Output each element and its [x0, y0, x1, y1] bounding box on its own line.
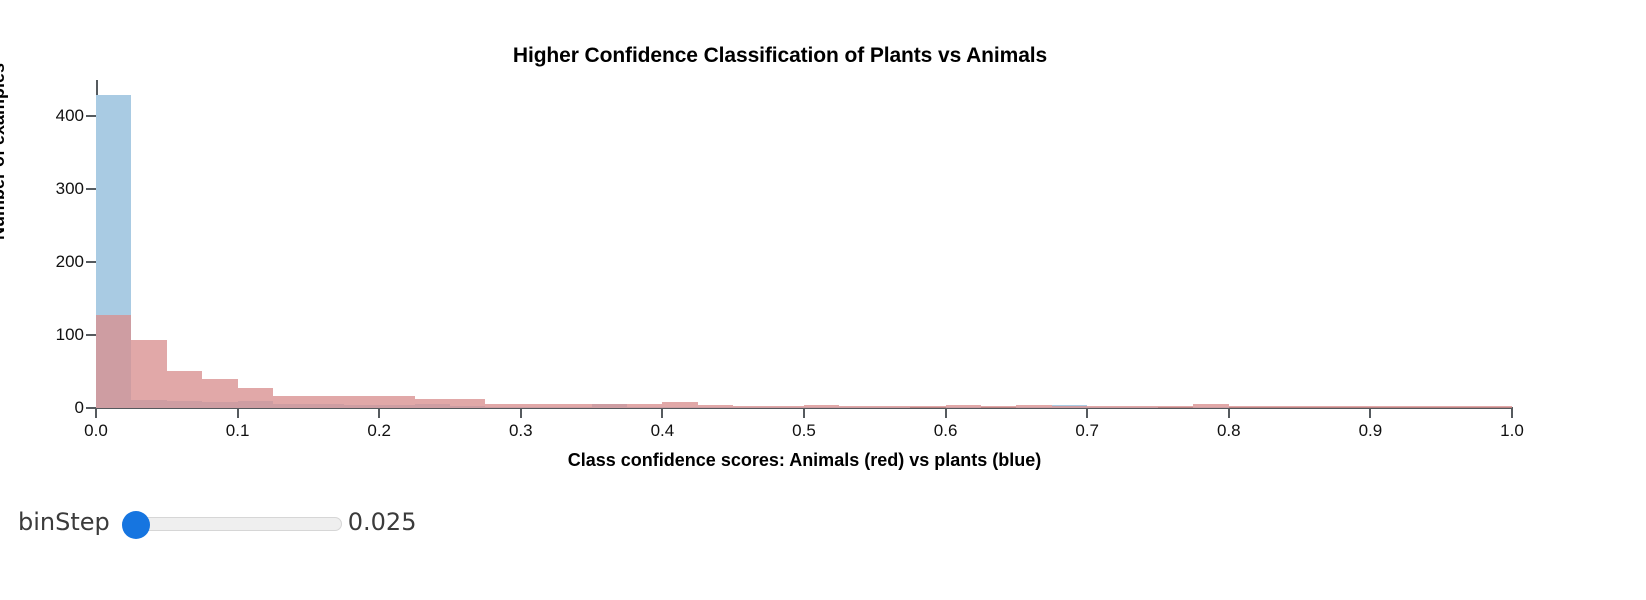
histogram-bar: [981, 406, 1016, 408]
x-axis-label: Class confidence scores: Animals (red) v…: [96, 450, 1513, 471]
x-tick-label: 0.7: [1075, 421, 1099, 441]
x-tick-label: 0.2: [367, 421, 391, 441]
bin-step-label: binStep: [18, 508, 110, 536]
histogram-bar: [804, 405, 839, 408]
y-tick: [86, 115, 96, 117]
histogram-bar: [96, 315, 131, 408]
y-tick: [86, 334, 96, 336]
x-tick: [95, 409, 97, 418]
histogram-bar: [1123, 406, 1158, 408]
histogram-bar: [1158, 406, 1193, 408]
x-tick: [1511, 409, 1513, 418]
histogram-bar: [450, 399, 485, 408]
histogram-bar: [769, 406, 804, 408]
y-tick-label: 200: [0, 252, 84, 272]
chart-figure: Higher Confidence Classification of Plan…: [0, 0, 1646, 490]
histogram-bar: [592, 404, 627, 408]
y-tick: [86, 188, 96, 190]
histogram-bar: [875, 406, 910, 408]
histogram-bar: [1016, 405, 1051, 408]
histogram-bar: [1087, 406, 1122, 408]
x-tick-label: 1.0: [1500, 421, 1524, 441]
histogram-bar: [946, 405, 981, 408]
x-tick: [803, 409, 805, 418]
histogram-bar: [627, 404, 662, 408]
histogram-bar: [910, 406, 945, 408]
histogram-bar: [521, 404, 556, 408]
histogram-bar: [733, 406, 768, 408]
histogram-bar: [1335, 406, 1370, 408]
histogram-bar: [839, 406, 874, 408]
y-axis-label: Number of examples: [0, 63, 9, 240]
y-tick-label: 0: [0, 398, 84, 418]
bin-step-value: 0.025: [348, 508, 417, 536]
histogram-bar: [1300, 406, 1335, 408]
x-tick: [378, 409, 380, 418]
bin-step-control-row: binStep 0.025: [0, 492, 1646, 552]
histogram-bar: [308, 396, 343, 408]
histogram-bar: [1406, 406, 1441, 408]
histogram-bar: [202, 379, 237, 408]
y-tick: [86, 261, 96, 263]
x-tick-label: 0.4: [651, 421, 675, 441]
chart-title: Higher Confidence Classification of Plan…: [0, 44, 1560, 68]
x-tick: [520, 409, 522, 418]
histogram-bar: [485, 404, 520, 408]
x-tick-label: 0.8: [1217, 421, 1241, 441]
histogram-bar: [1370, 406, 1405, 408]
histogram-bar: [273, 396, 308, 408]
x-tick: [237, 409, 239, 418]
plot-area: [96, 80, 1512, 408]
x-tick-label: 0.5: [792, 421, 816, 441]
x-tick: [945, 409, 947, 418]
bin-step-slider[interactable]: [112, 505, 342, 539]
x-tick: [1086, 409, 1088, 418]
histogram-bar: [1264, 406, 1299, 408]
y-tick-label: 100: [0, 325, 84, 345]
histogram-bar: [167, 371, 202, 408]
histogram-bar: [238, 388, 273, 408]
slider-track[interactable]: [122, 517, 342, 531]
x-tick: [1228, 409, 1230, 418]
histogram-bar: [698, 405, 733, 408]
histogram-bar: [344, 396, 379, 408]
x-tick-label: 0.6: [934, 421, 958, 441]
histogram-bars: [96, 80, 1512, 408]
y-tick-label: 300: [0, 179, 84, 199]
y-tick-label: 400: [0, 106, 84, 126]
histogram-bar: [415, 399, 450, 408]
x-tick-label: 0.1: [226, 421, 250, 441]
x-tick-label: 0.0: [84, 421, 108, 441]
x-tick-label: 0.3: [509, 421, 533, 441]
x-tick: [661, 409, 663, 418]
histogram-bar: [662, 402, 697, 408]
histogram-bar: [1052, 406, 1087, 408]
histogram-bar: [1193, 404, 1228, 408]
histogram-bar: [131, 340, 166, 408]
x-tick-label: 0.9: [1359, 421, 1383, 441]
histogram-bar: [556, 404, 591, 408]
histogram-bar: [1441, 406, 1476, 408]
histogram-bar: [1229, 406, 1264, 408]
slider-thumb[interactable]: [122, 511, 150, 539]
histogram-page: Higher Confidence Classification of Plan…: [0, 0, 1646, 600]
x-tick: [1369, 409, 1371, 418]
histogram-bar: [1477, 406, 1512, 408]
histogram-bar: [379, 396, 414, 408]
